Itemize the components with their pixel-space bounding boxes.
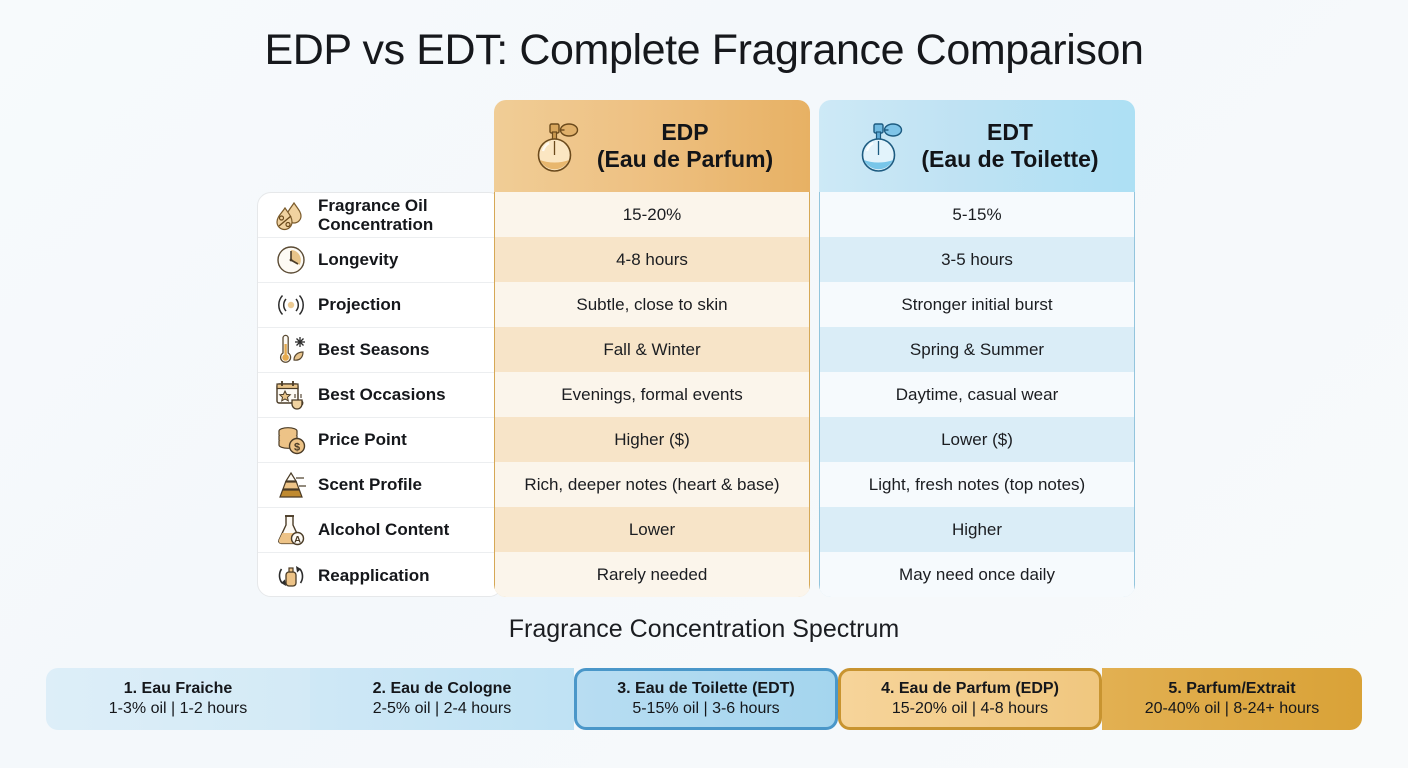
table-row: Best Occasions	[258, 373, 504, 418]
table-cell: Rarely needed	[495, 552, 809, 597]
table-cell: Higher	[820, 507, 1134, 552]
page-title: EDP vs EDT: Complete Fragrance Compariso…	[0, 26, 1408, 75]
column-title-edt: EDT (Eau de Toilette)	[921, 119, 1098, 173]
table-row: A Alcohol Content	[258, 508, 504, 553]
spectrum-segment-highlighted-edt: 3. Eau de Toilette (EDT) 5-15% oil | 3-6…	[574, 668, 838, 730]
segment-detail: 15-20% oil | 4-8 hours	[892, 699, 1048, 719]
row-label: Reapplication	[318, 566, 429, 585]
scent-pyramid-icon	[274, 468, 308, 502]
row-label: Projection	[318, 295, 401, 314]
table-row: Best Seasons	[258, 328, 504, 373]
column-header-edt: EDT (Eau de Toilette)	[819, 100, 1135, 192]
row-label: Best Occasions	[318, 385, 446, 404]
row-label: Scent Profile	[318, 475, 422, 494]
table-cell: Stronger initial burst	[820, 282, 1134, 327]
perfume-bottle-blue-icon	[855, 118, 907, 174]
table-cell: Light, fresh notes (top notes)	[820, 462, 1134, 507]
segment-name: 4. Eau de Parfum (EDP)	[881, 679, 1059, 698]
column-edp: EDP (Eau de Parfum) 15-20% 4-8 hours Sub…	[494, 100, 810, 597]
segment-name: 3. Eau de Toilette (EDT)	[617, 679, 795, 698]
column-header-edp: EDP (Eau de Parfum)	[494, 100, 810, 192]
segment-name: 1. Eau Fraiche	[124, 679, 233, 698]
clock-icon	[274, 243, 308, 277]
svg-text:$: $	[294, 441, 300, 453]
table-cell: 3-5 hours	[820, 237, 1134, 282]
spectrum-segment: 5. Parfum/Extrait 20-40% oil | 8-24+ hou…	[1102, 668, 1362, 730]
reapply-refresh-icon	[274, 559, 308, 593]
table-cell: Daytime, casual wear	[820, 372, 1134, 417]
segment-detail: 2-5% oil | 2-4 hours	[373, 699, 511, 719]
table-cell: May need once daily	[820, 552, 1134, 597]
table-row: Scent Profile	[258, 463, 504, 508]
row-label: Longevity	[318, 250, 398, 269]
column-title-edp: EDP (Eau de Parfum)	[597, 119, 773, 173]
table-cell: Lower	[495, 507, 809, 552]
table-cell: Higher ($)	[495, 417, 809, 462]
segment-detail: 20-40% oil | 8-24+ hours	[1145, 699, 1319, 719]
segment-detail: 5-15% oil | 3-6 hours	[632, 699, 779, 719]
signal-waves-icon	[274, 288, 308, 322]
table-row: Reapplication	[258, 553, 504, 598]
table-row: Projection	[258, 283, 504, 328]
row-label: Alcohol Content	[318, 520, 449, 539]
table-row: Longevity	[258, 238, 504, 283]
table-cell: Fall & Winter	[495, 327, 809, 372]
table-cell: Rich, deeper notes (heart & base)	[495, 462, 809, 507]
table-cell: Spring & Summer	[820, 327, 1134, 372]
flask-alcohol-icon: A	[274, 513, 308, 547]
spectrum-segment-highlighted-edp: 4. Eau de Parfum (EDP) 15-20% oil | 4-8 …	[838, 668, 1102, 730]
segment-detail: 1-3% oil | 1-2 hours	[109, 699, 247, 719]
segment-name: 5. Parfum/Extrait	[1168, 679, 1295, 698]
table-cell: Subtle, close to skin	[495, 282, 809, 327]
perfume-bottle-gold-icon	[531, 118, 583, 174]
svg-text:A: A	[294, 535, 301, 546]
column-body-edt: 5-15% 3-5 hours Stronger initial burst S…	[819, 192, 1135, 597]
thermometer-snow-leaf-icon	[274, 333, 308, 367]
comparison-table: Fragrance Oil Concentration Longevity	[257, 100, 1143, 597]
spectrum-segment: 2. Eau de Cologne 2-5% oil | 2-4 hours	[310, 668, 574, 730]
table-cell: 5-15%	[820, 192, 1134, 237]
row-label: Fragrance Oil Concentration	[318, 196, 433, 234]
row-label: Best Seasons	[318, 340, 430, 359]
row-label: Price Point	[318, 430, 407, 449]
droplet-percent-icon	[274, 198, 308, 232]
spectrum-title: Fragrance Concentration Spectrum	[0, 615, 1408, 644]
row-label-panel: Fragrance Oil Concentration Longevity	[257, 192, 503, 597]
infographic-page: EDP vs EDT: Complete Fragrance Compariso…	[0, 0, 1408, 768]
concentration-spectrum: 1. Eau Fraiche 1-3% oil | 1-2 hours 2. E…	[46, 668, 1362, 730]
table-cell: 15-20%	[495, 192, 809, 237]
table-row: $ Price Point	[258, 418, 504, 463]
table-row: Fragrance Oil Concentration	[258, 193, 504, 238]
calendar-cup-icon	[274, 378, 308, 412]
table-cell: Lower ($)	[820, 417, 1134, 462]
column-edt: EDT (Eau de Toilette) 5-15% 3-5 hours St…	[819, 100, 1135, 597]
segment-name: 2. Eau de Cologne	[373, 679, 512, 698]
coins-dollar-icon: $	[274, 423, 308, 457]
table-cell: Evenings, formal events	[495, 372, 809, 417]
spectrum-segment: 1. Eau Fraiche 1-3% oil | 1-2 hours	[46, 668, 310, 730]
column-body-edp: 15-20% 4-8 hours Subtle, close to skin F…	[494, 192, 810, 597]
table-cell: 4-8 hours	[495, 237, 809, 282]
